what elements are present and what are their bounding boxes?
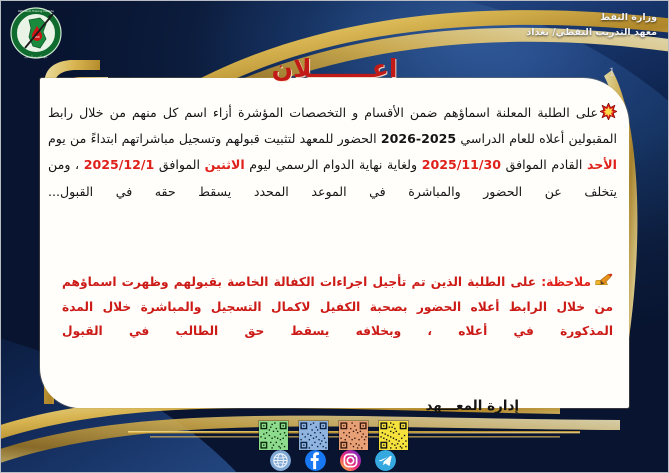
qr-code-blue[interactable] bbox=[298, 420, 329, 451]
note-text: على الطلبة الذين تم تأجيل اجراءات الكفال… bbox=[62, 275, 613, 338]
note-label: ملاحظة: bbox=[541, 275, 591, 289]
ministry-label: وزارة النفط bbox=[526, 11, 657, 26]
day-monday: الاثنين bbox=[205, 157, 245, 172]
page-title: اعـــــــلان bbox=[0, 54, 669, 83]
collision-starburst-icon bbox=[600, 103, 617, 120]
qr-code-orange[interactable] bbox=[338, 420, 369, 451]
date-start: 2025/11/30 bbox=[422, 157, 501, 172]
instagram-icon[interactable] bbox=[340, 450, 361, 471]
body-segment-4: ولغاية نهاية الدوام الرسمي ليوم bbox=[245, 157, 422, 172]
academic-year: 2025-2026 bbox=[381, 131, 456, 146]
qr-code-yellow[interactable] bbox=[378, 420, 409, 451]
announcement-slide: نفط Petroleum Training Institute معهد ال… bbox=[0, 0, 669, 473]
facebook-icon[interactable] bbox=[305, 450, 326, 471]
announcement-note: ملاحظة: على الطلبة الذين تم تأجيل اجراءا… bbox=[62, 270, 613, 344]
announcement-body: على الطلبة المعلنة اسماؤهم ضمن الأقسام و… bbox=[48, 100, 617, 205]
date-end: 2025/12/1 bbox=[84, 157, 155, 172]
header-org-block: وزارة النفط معهد التدريب النفطي/ بغداد bbox=[526, 11, 657, 40]
day-sunday: الأحد bbox=[587, 157, 617, 172]
website-globe-icon[interactable] bbox=[270, 450, 291, 471]
petroleum-training-institute-logo: نفط Petroleum Training Institute معهد ال… bbox=[9, 6, 63, 60]
signature-line: إدارة المعـــهد bbox=[425, 398, 519, 414]
telegram-icon[interactable] bbox=[375, 450, 396, 471]
body-segment-3: القادم الموافق bbox=[501, 157, 587, 172]
institute-label: معهد التدريب النفطي/ بغداد bbox=[526, 26, 657, 41]
svg-text:Petroleum Training Institute: Petroleum Training Institute bbox=[18, 9, 54, 13]
social-links-strip bbox=[270, 450, 396, 471]
qr-code-green[interactable] bbox=[258, 420, 289, 451]
body-segment-2: الحضور للمعهد لتثبيت قبولهم وتسجيل مباشر… bbox=[48, 131, 381, 146]
qr-code-strip bbox=[258, 420, 409, 451]
writing-hand-pencil-icon bbox=[594, 273, 613, 288]
body-segment-5: الموافق bbox=[154, 157, 204, 172]
